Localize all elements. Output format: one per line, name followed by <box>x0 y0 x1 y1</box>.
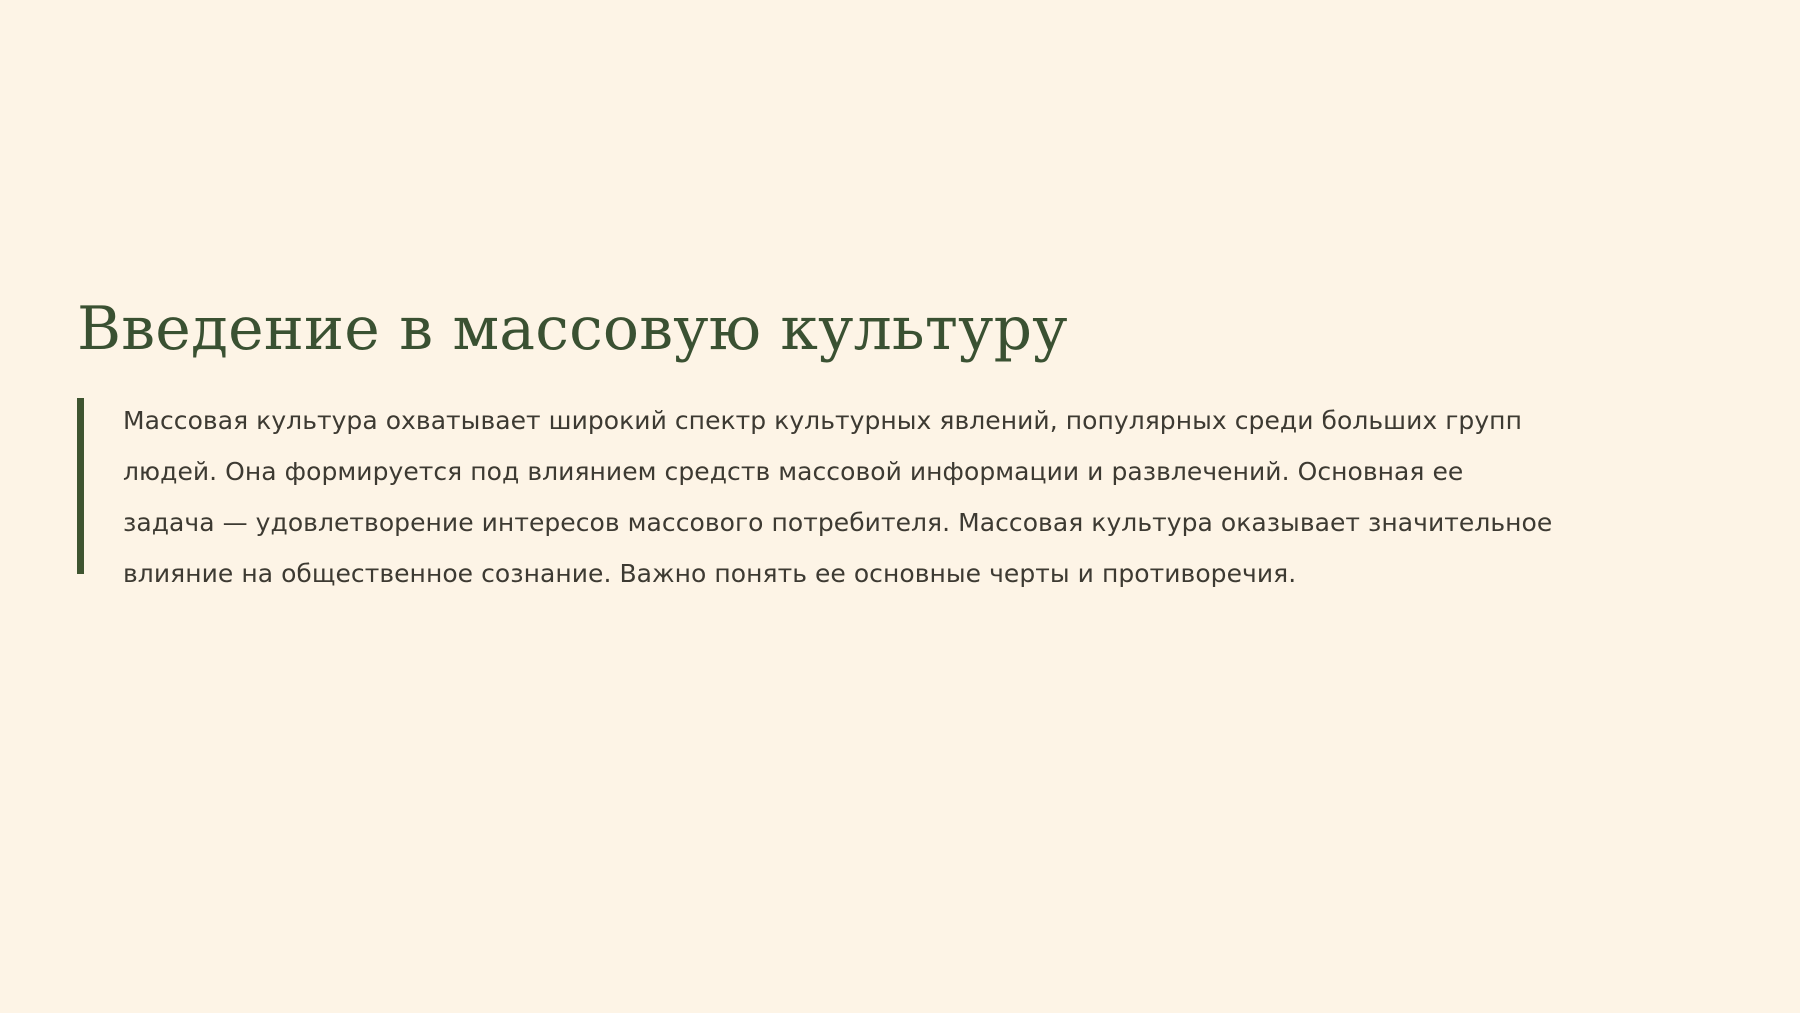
body-paragraph: Массовая культура охватывает широкий спе… <box>123 395 1558 599</box>
accent-bar <box>77 398 84 574</box>
content-block: Введение в массовую культуру Массовая ку… <box>77 296 1717 599</box>
slide-canvas: Введение в массовую культуру Массовая ку… <box>0 0 1800 1013</box>
page-title: Введение в массовую культуру <box>77 296 1717 363</box>
body-section: Массовая культура охватывает широкий спе… <box>77 395 1717 599</box>
